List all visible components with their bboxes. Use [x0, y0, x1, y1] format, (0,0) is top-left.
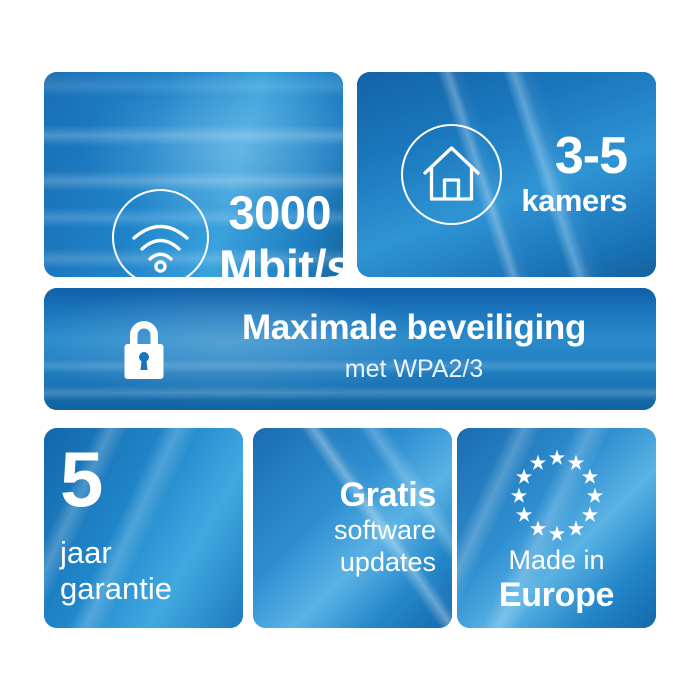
feature-infographic: 3000 Mbit/s 3-5 kamers	[0, 0, 700, 700]
feature-banner-security: Maximale beveiliging met WPA2/3	[44, 288, 656, 410]
europe-text-block: Made in Europe	[473, 544, 640, 614]
speed-unit: Mbit/s	[219, 243, 331, 277]
eu-star	[510, 488, 526, 503]
rooms-value: 3-5	[497, 130, 627, 183]
warranty-label-block: jaar garantie	[60, 535, 227, 607]
feature-card-europe: Made in Europe	[457, 428, 656, 628]
speed-value: 3000	[219, 189, 331, 237]
warranty-line-2: garantie	[60, 571, 227, 607]
eu-star	[567, 520, 583, 535]
wifi-icon-glyph	[114, 191, 207, 277]
speed-value-block: 3000 Mbit/s	[219, 189, 331, 277]
eu-star	[516, 507, 532, 522]
house-icon	[401, 124, 502, 225]
eu-star	[529, 455, 545, 470]
security-title: Maximale beveiliging	[194, 308, 634, 348]
eu-star	[548, 450, 564, 465]
feature-card-rooms: 3-5 kamers	[357, 72, 656, 277]
updates-text-block: Gratis software updates	[269, 476, 436, 579]
warranty-text-block: 5	[60, 444, 227, 516]
updates-line-1: software	[269, 514, 436, 546]
house-icon-glyph	[403, 126, 500, 223]
rooms-value-block: 3-5 kamers	[497, 130, 627, 217]
eu-star	[548, 526, 564, 541]
eu-star	[581, 469, 597, 484]
eu-star	[516, 469, 532, 484]
updates-line-2: updates	[269, 546, 436, 578]
padlock-icon-glyph	[110, 315, 178, 383]
eu-star	[586, 488, 602, 503]
feature-card-warranty: 5 jaar garantie	[44, 428, 243, 628]
eu-star	[567, 455, 583, 470]
rooms-label: kamers	[497, 185, 627, 217]
eu-stars-icon	[505, 444, 609, 548]
updates-title: Gratis	[269, 476, 436, 514]
warranty-years-number: 5	[60, 444, 227, 516]
padlock-icon	[110, 315, 178, 383]
eu-stars-icon-glyph	[505, 444, 609, 548]
feature-card-speed: 3000 Mbit/s	[44, 72, 343, 277]
eu-star	[581, 507, 597, 522]
wifi-icon	[112, 189, 209, 277]
security-subtitle: met WPA2/3	[194, 354, 634, 384]
europe-line-1: Made in	[473, 544, 640, 576]
feature-card-updates: Gratis software updates	[253, 428, 452, 628]
warranty-line-1: jaar	[60, 535, 227, 571]
banner-text-block: Maximale beveiliging met WPA2/3	[194, 308, 634, 384]
europe-line-2: Europe	[473, 576, 640, 614]
eu-star	[529, 520, 545, 535]
